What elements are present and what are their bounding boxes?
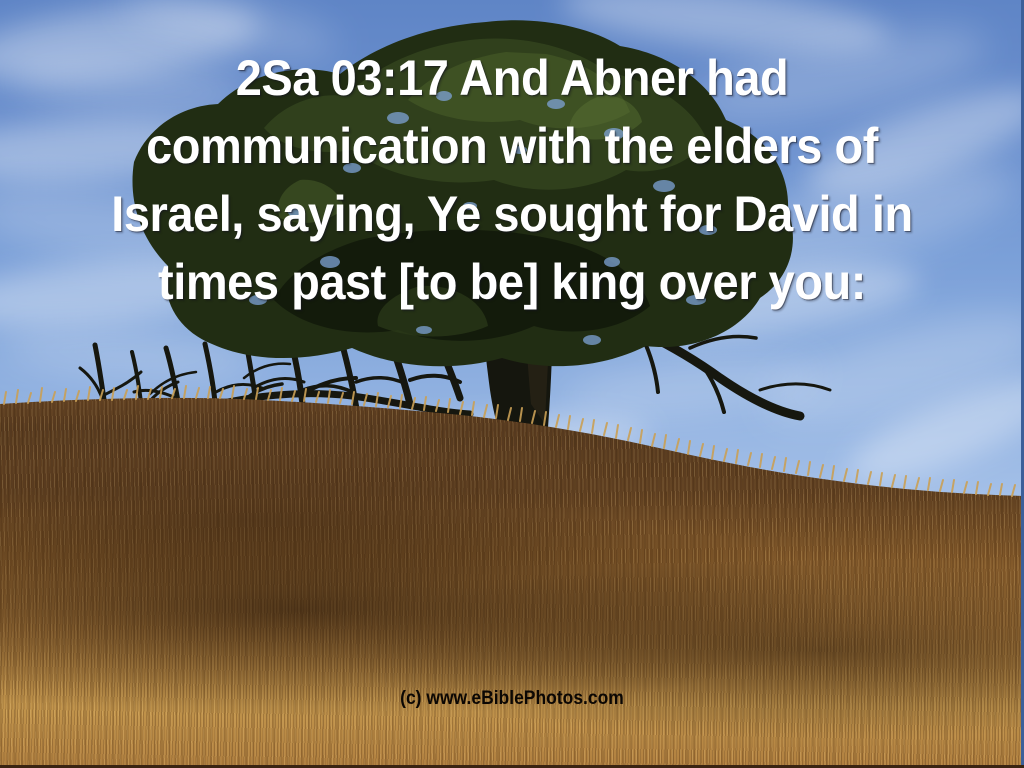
verse-line-2: communication with the elders of: [31, 112, 994, 180]
verse-line-3: Israel, saying, Ye sought for David in: [31, 180, 994, 248]
scripture-photo: 2Sa 03:17 And Abner had communication wi…: [0, 0, 1024, 768]
verse-line-1: 2Sa 03:17 And Abner had: [31, 44, 994, 112]
verse-line-4: times past [to be] king over you:: [31, 248, 994, 316]
copyright-credit: (c) www.eBiblePhotos.com: [41, 688, 983, 710]
verse-text: 2Sa 03:17 And Abner had communication wi…: [31, 44, 994, 316]
